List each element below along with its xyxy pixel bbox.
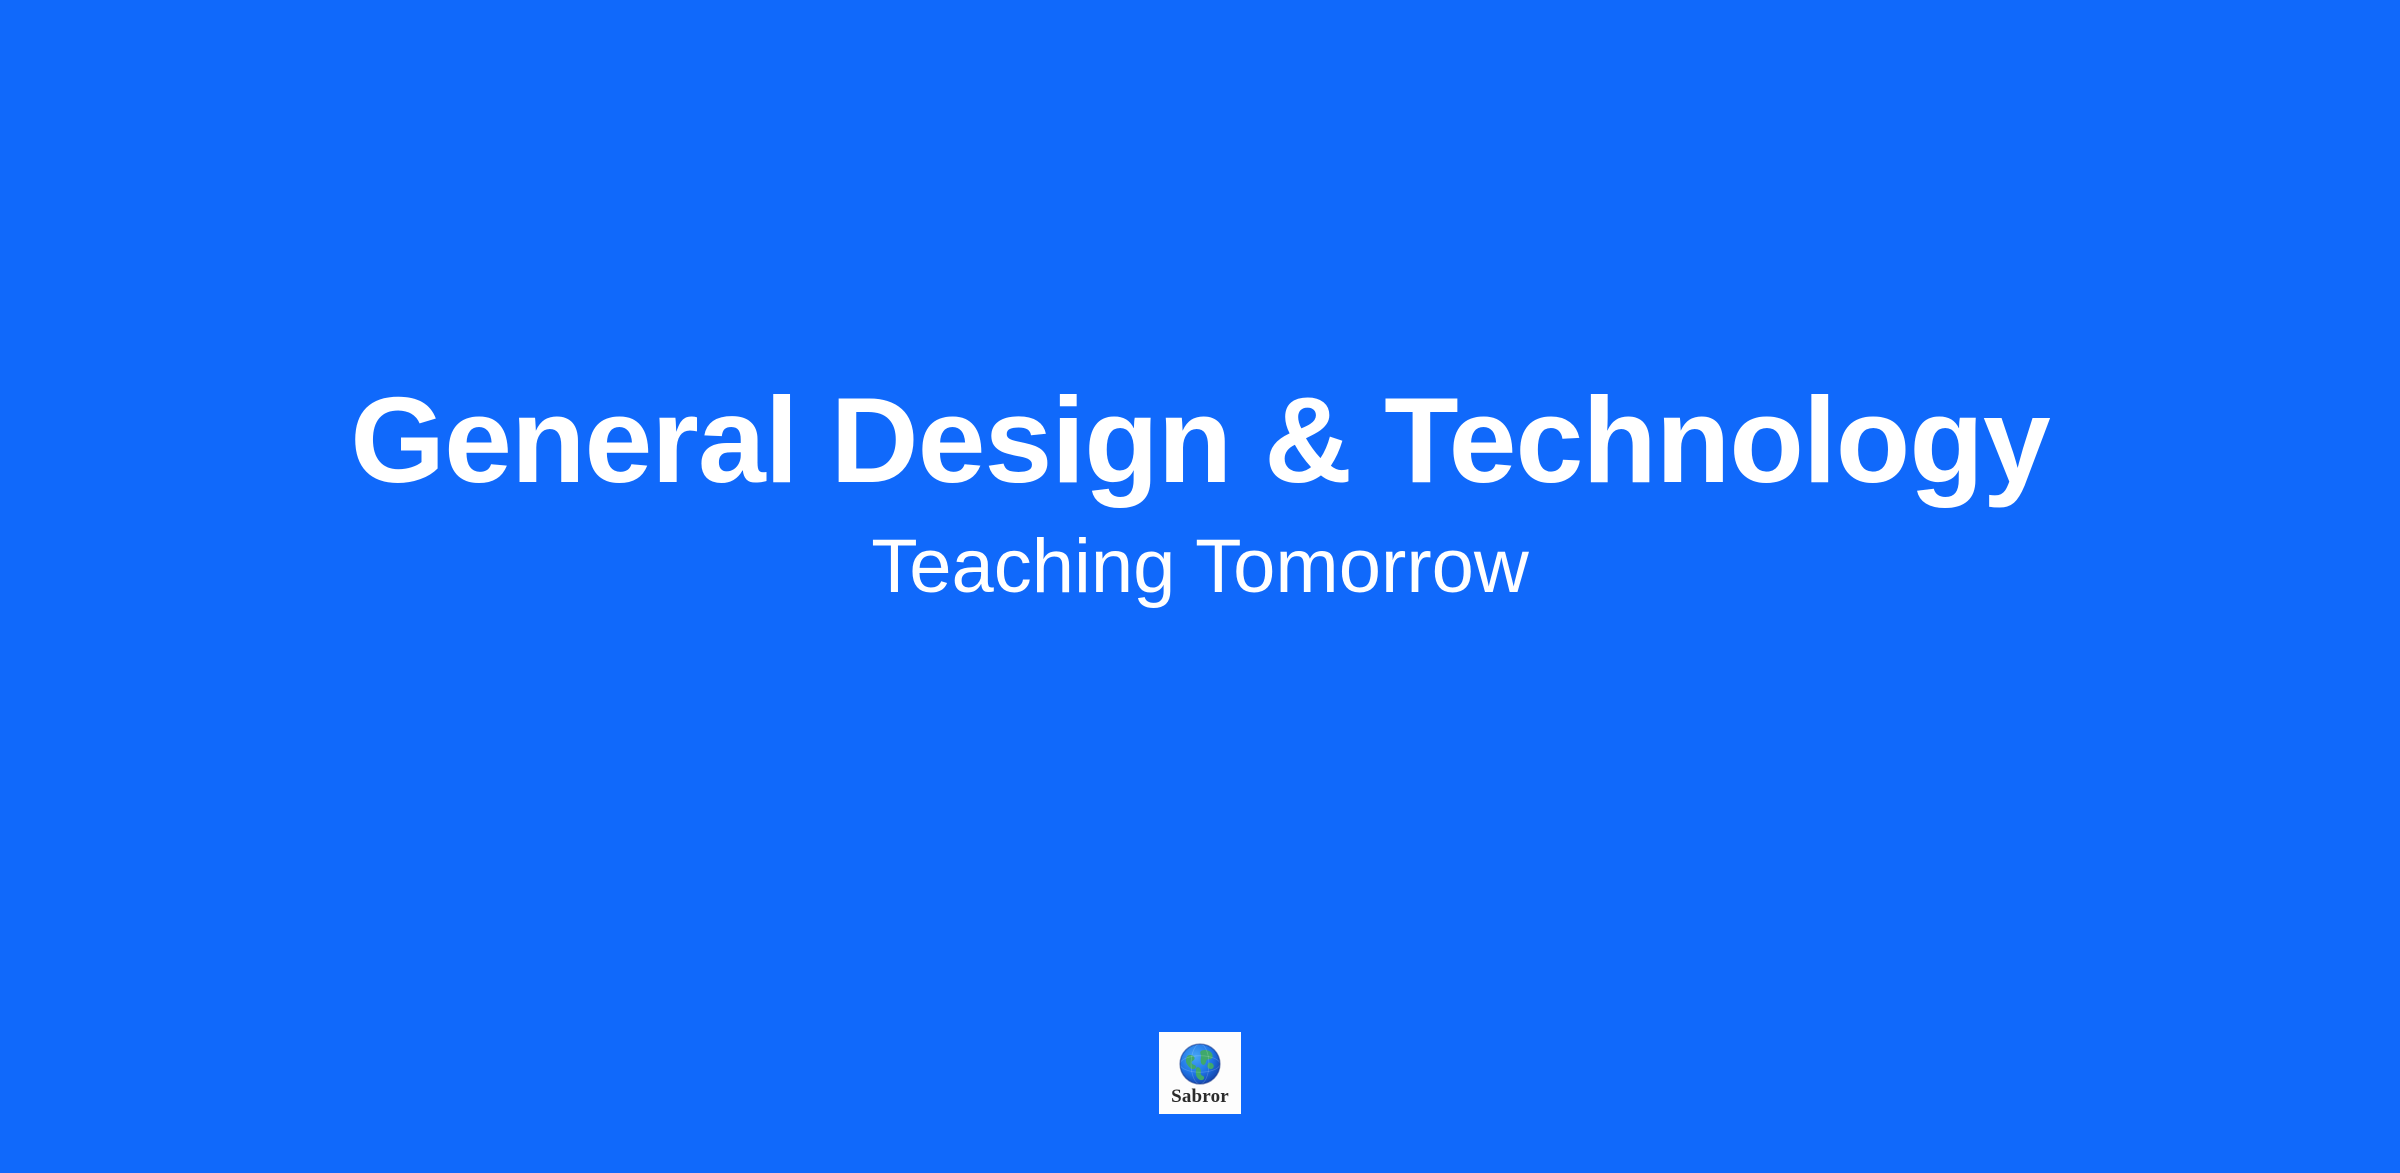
title-block: General Design & Technology Teaching Tom… [0,372,2400,610]
page-subtitle: Teaching Tomorrow [120,523,2280,610]
page-title: General Design & Technology [120,372,2280,509]
presentation-slide: General Design & Technology Teaching Tom… [0,0,2400,1173]
brand-name: Sabror [1171,1087,1229,1106]
brand-logo[interactable]: Sabror [1159,1032,1241,1114]
globe-icon [1178,1042,1222,1086]
